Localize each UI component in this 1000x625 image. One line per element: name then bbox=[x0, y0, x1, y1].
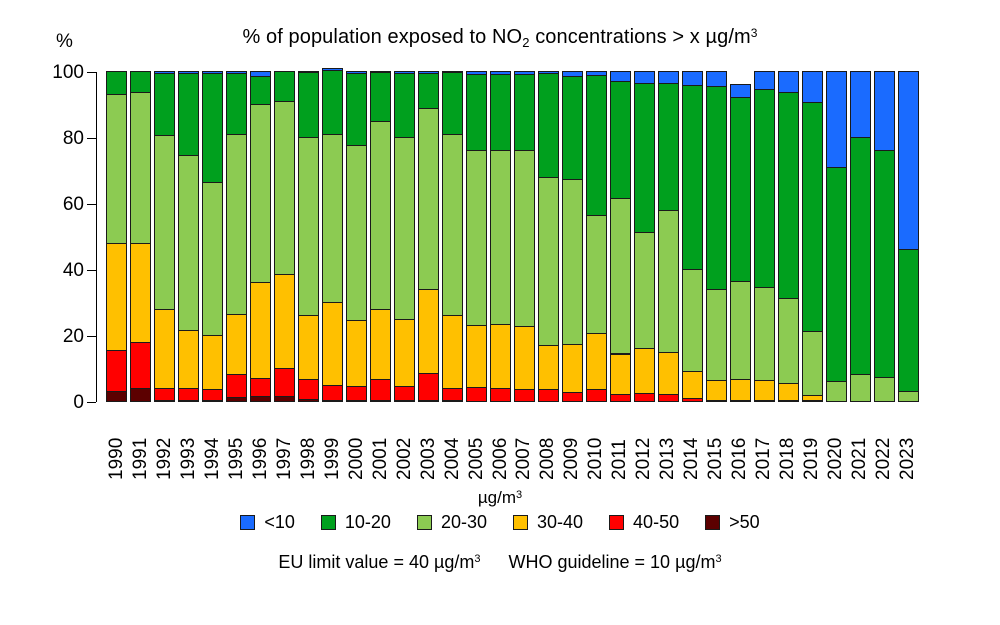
footnote-1: EU limit value = 40 µg/m3 bbox=[278, 552, 480, 573]
x-axis-label-1997: 1997 bbox=[274, 407, 295, 485]
bar-segment-10[interactable] bbox=[514, 71, 535, 75]
bar-segment-40-50[interactable] bbox=[154, 388, 175, 402]
bar-2016[interactable] bbox=[730, 72, 751, 402]
bar-segment-10-20[interactable] bbox=[514, 74, 535, 151]
bar-segment-40-50[interactable] bbox=[130, 342, 151, 389]
y-axis-tick bbox=[87, 138, 96, 139]
bar-2003[interactable] bbox=[418, 72, 439, 402]
bar-segment-30-40[interactable] bbox=[442, 315, 463, 389]
bar-segment-30-40[interactable] bbox=[562, 344, 583, 393]
x-axis-label-1996: 1996 bbox=[250, 407, 271, 485]
title-superscript: 3 bbox=[751, 26, 758, 40]
bar-segment-10[interactable] bbox=[562, 71, 583, 77]
bar-segment-10[interactable] bbox=[298, 71, 319, 73]
bar-segment-10-20[interactable] bbox=[610, 81, 631, 199]
bar-1997[interactable] bbox=[274, 72, 295, 402]
bar-segment-20-30[interactable] bbox=[802, 331, 823, 396]
footnotes: EU limit value = 40 µg/m3WHO guideline =… bbox=[0, 552, 1000, 573]
bar-segment-10[interactable] bbox=[898, 71, 919, 250]
bar-segment-20-30[interactable] bbox=[778, 298, 799, 384]
bar-segment-10-20[interactable] bbox=[658, 83, 679, 211]
bar-segment-30-40[interactable] bbox=[610, 354, 631, 396]
bar-segment-30-40[interactable] bbox=[394, 319, 415, 388]
bar-segment-10-20[interactable] bbox=[442, 72, 463, 135]
legend-item-label: 10-20 bbox=[345, 513, 391, 531]
legend-unit-title: µg/m3 bbox=[0, 488, 1000, 508]
bar-segment-40-50[interactable] bbox=[106, 350, 127, 392]
bar-segment-10-20[interactable] bbox=[826, 167, 847, 383]
bar-segment-40-50[interactable] bbox=[538, 389, 559, 402]
footnote-text: WHO guideline = 10 µg/m bbox=[508, 552, 715, 572]
bar-segment-10[interactable] bbox=[730, 84, 751, 98]
x-axis-label-2016: 2016 bbox=[730, 407, 751, 485]
x-axis-label-1998: 1998 bbox=[298, 407, 319, 485]
bar-segment-30-40[interactable] bbox=[754, 380, 775, 402]
bar-segment-20-30[interactable] bbox=[226, 134, 247, 315]
x-axis-label-2007: 2007 bbox=[514, 407, 535, 485]
bar-segment-10-20[interactable] bbox=[634, 83, 655, 234]
bar-segment-30-40[interactable] bbox=[586, 333, 607, 390]
bar-2010[interactable] bbox=[586, 72, 607, 402]
bar-segment-40-50[interactable] bbox=[298, 379, 319, 400]
bar-segment-30-40[interactable] bbox=[514, 326, 535, 390]
bar-segment-10[interactable] bbox=[394, 71, 415, 74]
bar-2022[interactable] bbox=[874, 72, 895, 402]
bar-segment-30-40[interactable] bbox=[106, 243, 127, 351]
x-axis-label-2015: 2015 bbox=[706, 407, 727, 485]
footnote-text: EU limit value = 40 µg/m bbox=[278, 552, 474, 572]
bar-segment-20-30[interactable] bbox=[490, 150, 511, 325]
bar-segment-20-30[interactable] bbox=[706, 289, 727, 380]
bar-segment-20-30[interactable] bbox=[874, 377, 895, 402]
bar-segment-10-20[interactable] bbox=[706, 86, 727, 290]
bar-segment-40-50[interactable] bbox=[250, 378, 271, 397]
bar-segment-10-20[interactable] bbox=[202, 73, 223, 184]
bar-2000[interactable] bbox=[346, 72, 367, 402]
bar-segment-20-30[interactable] bbox=[898, 391, 919, 402]
bar-segment-20-30[interactable] bbox=[346, 145, 367, 321]
bar-2020[interactable] bbox=[826, 72, 847, 402]
bar-segment-20-30[interactable] bbox=[610, 198, 631, 354]
bar-segment-10-20[interactable] bbox=[562, 76, 583, 181]
bar-2019[interactable] bbox=[802, 72, 823, 402]
bar-segment-10[interactable] bbox=[874, 71, 895, 151]
bar-segment-20-30[interactable] bbox=[298, 137, 319, 316]
bar-segment-10[interactable] bbox=[226, 71, 247, 74]
bar-segment-10[interactable] bbox=[658, 71, 679, 84]
footnote-superscript: 3 bbox=[715, 553, 721, 565]
bar-segment-10-20[interactable] bbox=[730, 97, 751, 281]
x-axis-label-2022: 2022 bbox=[874, 407, 895, 485]
page-title: % of population exposed to NO2 concentra… bbox=[0, 26, 1000, 49]
bar-segment-10[interactable] bbox=[490, 71, 511, 75]
y-axis-tick bbox=[87, 204, 96, 205]
bar-segment-10[interactable] bbox=[850, 71, 871, 138]
bar-1999[interactable] bbox=[322, 72, 343, 402]
bar-segment-10[interactable] bbox=[346, 71, 367, 74]
plot-area bbox=[105, 72, 920, 402]
bar-segment-10[interactable] bbox=[706, 71, 727, 87]
bar-segment-10-20[interactable] bbox=[226, 73, 247, 135]
bar-2001[interactable] bbox=[370, 72, 391, 402]
x-axis-tick-labels: 1990199119921993199419951996199719981999… bbox=[105, 405, 920, 485]
bar-segment-20-30[interactable] bbox=[130, 92, 151, 243]
bar-segment-10-20[interactable] bbox=[106, 71, 127, 95]
bar-segment-10-20[interactable] bbox=[466, 74, 487, 152]
bar-1995[interactable] bbox=[226, 72, 247, 402]
bar-segment-20-30[interactable] bbox=[322, 134, 343, 303]
bar-segment-10-20[interactable] bbox=[874, 150, 895, 378]
bar-segment-10[interactable] bbox=[250, 71, 271, 77]
bar-segment-40-50[interactable] bbox=[610, 394, 631, 402]
legend-swatch-icon bbox=[417, 515, 432, 530]
bar-2005[interactable] bbox=[466, 72, 487, 402]
legend-item-20-30[interactable]: 20-30 bbox=[417, 513, 487, 531]
bar-segment-10[interactable] bbox=[754, 71, 775, 90]
bar-2014[interactable] bbox=[682, 72, 703, 402]
x-axis-label-2009: 2009 bbox=[562, 407, 583, 485]
bar-segment-20-30[interactable] bbox=[682, 269, 703, 372]
x-axis-label-2012: 2012 bbox=[634, 407, 655, 485]
x-axis-label-2011: 2011 bbox=[610, 407, 631, 485]
bar-segment-40-50[interactable] bbox=[370, 379, 391, 401]
x-axis-label-2014: 2014 bbox=[682, 407, 703, 485]
bar-segment-40-50[interactable] bbox=[226, 374, 247, 398]
y-axis-tick-label: 80 bbox=[40, 129, 84, 148]
bar-1998[interactable] bbox=[298, 72, 319, 402]
bar-segment-10[interactable] bbox=[154, 71, 175, 74]
bar-segment-10[interactable] bbox=[178, 71, 199, 74]
bar-segment-10[interactable] bbox=[802, 71, 823, 103]
bar-segment-40-50[interactable] bbox=[322, 385, 343, 401]
x-axis-label-2008: 2008 bbox=[538, 407, 559, 485]
bar-segment-10-20[interactable] bbox=[274, 71, 295, 102]
bar-segment-40-50[interactable] bbox=[634, 393, 655, 402]
bar-segment-20-30[interactable] bbox=[418, 108, 439, 290]
legend-swatch-icon bbox=[321, 515, 336, 530]
bar-segment-20-30[interactable] bbox=[466, 150, 487, 326]
bar-1996[interactable] bbox=[250, 72, 271, 402]
bar-segment-30-40[interactable] bbox=[466, 325, 487, 389]
bar-segment-40-50[interactable] bbox=[586, 389, 607, 401]
bar-segment-10-20[interactable] bbox=[298, 72, 319, 138]
bar-segment-30-40[interactable] bbox=[250, 282, 271, 379]
bar-segment-10-20[interactable] bbox=[778, 92, 799, 298]
footnote-superscript: 3 bbox=[474, 553, 480, 565]
bar-2002[interactable] bbox=[394, 72, 415, 402]
y-axis-tick-label: 20 bbox=[40, 327, 84, 346]
x-axis-label-2005: 2005 bbox=[466, 407, 487, 485]
x-axis-label-2021: 2021 bbox=[850, 407, 871, 485]
legend-swatch-icon bbox=[513, 515, 528, 530]
y-axis-tick bbox=[87, 72, 96, 73]
bar-segment-30-40[interactable] bbox=[706, 380, 727, 401]
bar-segment-40-50[interactable] bbox=[418, 373, 439, 401]
chart-root: % of population exposed to NO2 concentra… bbox=[0, 0, 1000, 625]
x-axis-label-2004: 2004 bbox=[442, 407, 463, 485]
legend-item-label: 20-30 bbox=[441, 513, 487, 531]
bar-segment-10-20[interactable] bbox=[850, 137, 871, 375]
bar-segment-10-20[interactable] bbox=[538, 73, 559, 178]
x-axis-label-2003: 2003 bbox=[418, 407, 439, 485]
x-axis-label-2013: 2013 bbox=[658, 407, 679, 485]
title-prefix: % of population exposed to NO bbox=[242, 26, 522, 48]
legend-swatch-icon bbox=[609, 515, 624, 530]
bar-2009[interactable] bbox=[562, 72, 583, 402]
y-axis-tick-label: 0 bbox=[40, 393, 84, 412]
bar-segment-10[interactable] bbox=[682, 71, 703, 86]
bar-segment-30-40[interactable] bbox=[154, 309, 175, 389]
bar-2012[interactable] bbox=[634, 72, 655, 402]
x-axis-label-2017: 2017 bbox=[754, 407, 775, 485]
bar-1994[interactable] bbox=[202, 72, 223, 402]
bar-segment-10[interactable] bbox=[442, 71, 463, 73]
legend-item-label: >50 bbox=[729, 513, 760, 531]
legend-item-40-50[interactable]: 40-50 bbox=[609, 513, 679, 531]
bar-segment-10[interactable] bbox=[418, 71, 439, 74]
bar-segment-10[interactable] bbox=[322, 68, 343, 71]
legend-unit-text: µg/m bbox=[478, 488, 516, 507]
bar-segment-30-40[interactable] bbox=[682, 371, 703, 399]
bar-segment-30-40[interactable] bbox=[418, 289, 439, 374]
legend-item-label: 40-50 bbox=[633, 513, 679, 531]
bar-segment-10[interactable] bbox=[778, 71, 799, 93]
legend-unit-superscript: 3 bbox=[516, 489, 522, 501]
bar-2006[interactable] bbox=[490, 72, 511, 402]
x-axis-label-2000: 2000 bbox=[346, 407, 367, 485]
bar-2008[interactable] bbox=[538, 72, 559, 402]
bar-segment-30-40[interactable] bbox=[202, 335, 223, 390]
bar-segment-10-20[interactable] bbox=[394, 73, 415, 138]
bar-segment-30-40[interactable] bbox=[538, 345, 559, 390]
bar-segment-20-30[interactable] bbox=[634, 232, 655, 349]
bar-segment-40-50[interactable] bbox=[274, 368, 295, 397]
bar-segment-30-40[interactable] bbox=[778, 383, 799, 401]
y-axis-tick-labels: 020406080100 bbox=[30, 0, 84, 625]
bar-segment-10-20[interactable] bbox=[898, 249, 919, 392]
legend-swatch-icon bbox=[240, 515, 255, 530]
x-axis-label-2020: 2020 bbox=[826, 407, 847, 485]
bar-segment-20-30[interactable] bbox=[178, 155, 199, 332]
x-axis-label-1991: 1991 bbox=[130, 407, 151, 485]
bar-segment-40-50[interactable] bbox=[346, 386, 367, 401]
bar-segment-10-20[interactable] bbox=[490, 74, 511, 151]
bar-segment-40-50[interactable] bbox=[202, 389, 223, 402]
bar-segment-40-50[interactable] bbox=[178, 388, 199, 401]
bar-segment-30-40[interactable] bbox=[634, 348, 655, 394]
bar-1991[interactable] bbox=[130, 72, 151, 402]
bar-segment-40-50[interactable] bbox=[466, 387, 487, 401]
bar-segment-10[interactable] bbox=[586, 71, 607, 76]
bar-segment-30-40[interactable] bbox=[226, 314, 247, 375]
bar-segment-30-40[interactable] bbox=[490, 324, 511, 390]
legend-item-10-20[interactable]: 10-20 bbox=[321, 513, 391, 531]
bar-segment-20-30[interactable] bbox=[250, 104, 271, 283]
bar-segment-10-20[interactable] bbox=[586, 75, 607, 217]
y-axis-tick bbox=[87, 336, 96, 337]
bar-segment-20-30[interactable] bbox=[538, 177, 559, 346]
bar-segment-10-20[interactable] bbox=[322, 70, 343, 135]
y-axis-tick-label: 60 bbox=[40, 195, 84, 214]
y-axis-tick bbox=[87, 402, 96, 403]
bar-segment-20-30[interactable] bbox=[730, 281, 751, 380]
bar-2013[interactable] bbox=[658, 72, 679, 402]
legend-swatch-icon bbox=[705, 515, 720, 530]
bar-segment-20-30[interactable] bbox=[394, 137, 415, 320]
bar-segment-40-50[interactable] bbox=[442, 388, 463, 402]
bar-segment-10-20[interactable] bbox=[154, 73, 175, 137]
title-suffix: concentrations > x µg/m bbox=[530, 26, 751, 48]
bar-segment-30-40[interactable] bbox=[730, 379, 751, 401]
bar-segment-10-20[interactable] bbox=[178, 73, 199, 156]
footnote-2: WHO guideline = 10 µg/m3 bbox=[508, 552, 721, 573]
bar-segment-10[interactable] bbox=[538, 71, 559, 74]
bar-segment-20-30[interactable] bbox=[826, 381, 847, 402]
bar-segment-40-50[interactable] bbox=[394, 386, 415, 401]
bar-segment-40-50[interactable] bbox=[490, 388, 511, 401]
legend-item-label: <10 bbox=[264, 513, 295, 531]
bar-segment-30-40[interactable] bbox=[658, 352, 679, 395]
y-axis-tick-label: 100 bbox=[40, 63, 84, 82]
bar-segment-40-50[interactable] bbox=[514, 389, 535, 402]
bar-segment-30-40[interactable] bbox=[370, 309, 391, 380]
bar-segment-20-30[interactable] bbox=[586, 215, 607, 334]
bar-segment-20-30[interactable] bbox=[106, 94, 127, 244]
bar-segment-10[interactable] bbox=[466, 71, 487, 75]
bar-segment-10-20[interactable] bbox=[346, 73, 367, 146]
bar-2021[interactable] bbox=[850, 72, 871, 402]
bar-segment-30-40[interactable] bbox=[130, 243, 151, 343]
bar-segment-20-30[interactable] bbox=[658, 210, 679, 353]
bar-segment-10-20[interactable] bbox=[130, 71, 151, 93]
bar-2023[interactable] bbox=[898, 72, 919, 402]
x-axis-label-1999: 1999 bbox=[322, 407, 343, 485]
bar-segment-40-50[interactable] bbox=[562, 392, 583, 401]
bar-segment-20-30[interactable] bbox=[514, 150, 535, 327]
bar-segment-10[interactable] bbox=[202, 71, 223, 74]
bar-segment-20-30[interactable] bbox=[442, 134, 463, 317]
x-axis-label-1990: 1990 bbox=[106, 407, 127, 485]
x-axis-label-2002: 2002 bbox=[394, 407, 415, 485]
bar-2015[interactable] bbox=[706, 72, 727, 402]
legend-item-30-40[interactable]: 30-40 bbox=[513, 513, 583, 531]
bar-segment-10-20[interactable] bbox=[802, 102, 823, 332]
bar-segment-20-30[interactable] bbox=[202, 182, 223, 336]
bar-segment-10-20[interactable] bbox=[754, 89, 775, 288]
bar-segment-30-40[interactable] bbox=[178, 330, 199, 389]
bar-segment-50[interactable] bbox=[106, 391, 127, 402]
bar-segment-30-40[interactable] bbox=[298, 315, 319, 380]
legend-item-10[interactable]: <10 bbox=[240, 513, 295, 531]
bar-segment-40-50[interactable] bbox=[658, 394, 679, 402]
bar-2018[interactable] bbox=[778, 72, 799, 402]
legend-item-label: 30-40 bbox=[537, 513, 583, 531]
x-axis-label-2019: 2019 bbox=[802, 407, 823, 485]
x-axis-label-1993: 1993 bbox=[178, 407, 199, 485]
bar-segment-20-30[interactable] bbox=[370, 121, 391, 310]
bar-segment-50[interactable] bbox=[130, 388, 151, 402]
legend-item-50[interactable]: >50 bbox=[705, 513, 760, 531]
bar-segment-20-30[interactable] bbox=[562, 179, 583, 345]
bar-segment-10-20[interactable] bbox=[250, 76, 271, 105]
bar-segment-10[interactable] bbox=[610, 71, 631, 82]
x-axis-label-1992: 1992 bbox=[154, 407, 175, 485]
x-axis-label-2018: 2018 bbox=[778, 407, 799, 485]
bar-segment-20-30[interactable] bbox=[274, 101, 295, 275]
bar-segment-10-20[interactable] bbox=[418, 73, 439, 109]
bar-2004[interactable] bbox=[442, 72, 463, 402]
x-axis-label-2001: 2001 bbox=[370, 407, 391, 485]
legend: <1010-2020-3030-4040-50>50 bbox=[0, 513, 1000, 531]
bar-segment-20-30[interactable] bbox=[850, 374, 871, 402]
y-axis-line bbox=[96, 72, 97, 402]
bar-segment-30-40[interactable] bbox=[274, 274, 295, 369]
bar-1990[interactable] bbox=[106, 72, 127, 402]
y-axis-tick bbox=[87, 270, 96, 271]
bar-segment-10[interactable] bbox=[634, 71, 655, 84]
bar-segment-10[interactable] bbox=[826, 71, 847, 168]
x-axis-label-2023: 2023 bbox=[898, 407, 919, 485]
bar-2011[interactable] bbox=[610, 72, 631, 402]
bar-segment-10[interactable] bbox=[370, 71, 391, 73]
bar-segment-10-20[interactable] bbox=[370, 72, 391, 122]
bar-segment-30-40[interactable] bbox=[322, 302, 343, 386]
bar-2007[interactable] bbox=[514, 72, 535, 402]
x-axis-label-2006: 2006 bbox=[490, 407, 511, 485]
bar-1993[interactable] bbox=[178, 72, 199, 402]
bar-segment-30-40[interactable] bbox=[346, 320, 367, 387]
bar-segment-20-30[interactable] bbox=[154, 135, 175, 309]
x-axis-label-1994: 1994 bbox=[202, 407, 223, 485]
title-subscript: 2 bbox=[522, 35, 529, 50]
x-axis-label-2010: 2010 bbox=[586, 407, 607, 485]
bar-segment-20-30[interactable] bbox=[754, 287, 775, 381]
y-axis-tick-label: 40 bbox=[40, 261, 84, 280]
bar-segment-10-20[interactable] bbox=[682, 85, 703, 270]
bar-1992[interactable] bbox=[154, 72, 175, 402]
x-axis-label-1995: 1995 bbox=[226, 407, 247, 485]
bar-2017[interactable] bbox=[754, 72, 775, 402]
